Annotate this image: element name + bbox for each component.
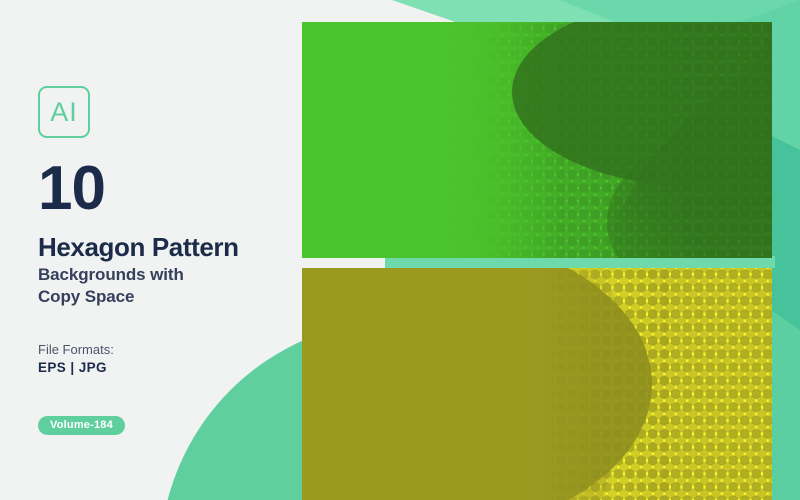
subtitle-line-1: Backgrounds with [38, 264, 278, 286]
pattern-panel-green [302, 22, 772, 258]
volume-badge-label: Volume-184 [50, 420, 113, 431]
page-subtitle: Backgrounds with Copy Space [38, 264, 278, 308]
yellow-halftone-layer [302, 268, 772, 500]
file-formats-value: EPS | JPG [38, 361, 107, 375]
green-panel-graphic [302, 22, 772, 258]
yellow-panel-graphic [302, 268, 772, 500]
page-title: Hexagon Pattern [38, 234, 239, 260]
volume-badge: Volume-184 [38, 416, 125, 435]
green-halftone-highlight [682, 22, 772, 258]
pattern-panel-yellow [302, 268, 772, 500]
item-count: 10 [38, 158, 105, 220]
yellow-halftone-edge [552, 268, 672, 500]
ai-badge-label: AI [50, 99, 78, 126]
info-column: AI 10 Hexagon Pattern Backgrounds with C… [38, 0, 300, 500]
poster-canvas: AI 10 Hexagon Pattern Backgrounds with C… [0, 0, 800, 500]
ai-format-badge: AI [38, 86, 90, 138]
subtitle-line-2: Copy Space [38, 286, 278, 308]
file-formats-label: File Formats: [38, 343, 114, 356]
